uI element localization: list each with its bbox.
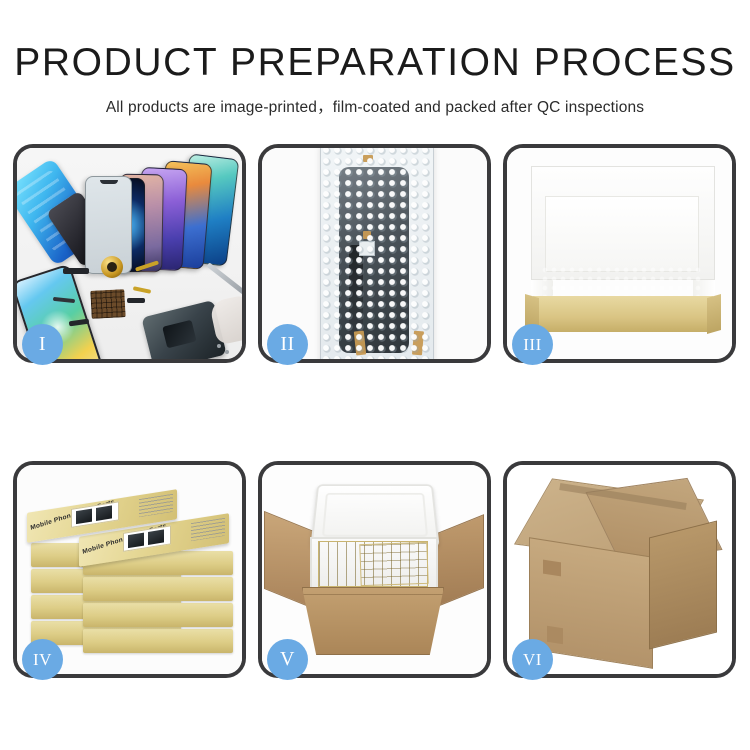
step-badge-4: IV (22, 639, 63, 680)
grey-bubble-wrap-icon (541, 266, 703, 300)
page-subtitle: All products are image-printed，film-coat… (0, 84, 750, 117)
bubble-texture-overlay (321, 148, 433, 359)
process-step-panel-4[interactable]: Mobile Phone Spare Parts Mobile Phone Sp… (13, 461, 246, 678)
connector-part-icon (63, 268, 89, 274)
step-badge-2: II (267, 324, 308, 365)
step-badge-1: I (22, 324, 63, 365)
outer-carton-icon (302, 587, 444, 655)
chip-array-icon (90, 289, 125, 319)
box-window-front (123, 525, 171, 552)
box-window-back (71, 501, 119, 528)
step-badge-5: V (267, 639, 308, 680)
phone-notch-icon (100, 180, 118, 184)
gold-coil-component-icon (101, 256, 123, 278)
carton-side-face-icon (649, 521, 717, 650)
process-step-panel-3[interactable]: III (503, 144, 736, 363)
carton-tape-upper-icon (543, 560, 561, 577)
kraft-boxes-row-2-icon (359, 542, 428, 586)
screw-2-icon (225, 350, 229, 354)
process-step-panel-6[interactable]: VI (503, 461, 736, 678)
screw-icon (217, 344, 221, 348)
flex-cable-2-icon (133, 286, 151, 294)
step-badge-6: VI (512, 639, 553, 680)
box-spec-lines-front (191, 518, 225, 541)
box-spec-lines-back (139, 494, 173, 517)
process-step-panel-2[interactable]: II (258, 144, 491, 363)
stacked-box-icon (83, 603, 233, 627)
kraft-box-base-icon (533, 296, 713, 332)
process-step-panel-5[interactable]: V (258, 461, 491, 678)
box-stack-group: Mobile Phone Spare Parts Mobile Phone Sp… (23, 479, 242, 669)
battery-connector-icon (127, 298, 145, 303)
step-badge-3: III (512, 324, 553, 365)
process-step-grid: I II (13, 144, 737, 679)
page-title: PRODUCT PREPARATION PROCESS (0, 0, 750, 84)
stacked-box-icon (83, 629, 233, 653)
bubble-wrap-bag-icon (320, 148, 434, 359)
process-step-panel-1[interactable]: I (13, 144, 246, 363)
product-preparation-infographic: PRODUCT PREPARATION PROCESS All products… (0, 0, 750, 750)
carton-tape-lower-icon (547, 626, 563, 645)
stacked-box-icon (83, 577, 233, 601)
white-foam-sheet-icon (545, 196, 699, 272)
header: PRODUCT PREPARATION PROCESS All products… (0, 0, 750, 117)
